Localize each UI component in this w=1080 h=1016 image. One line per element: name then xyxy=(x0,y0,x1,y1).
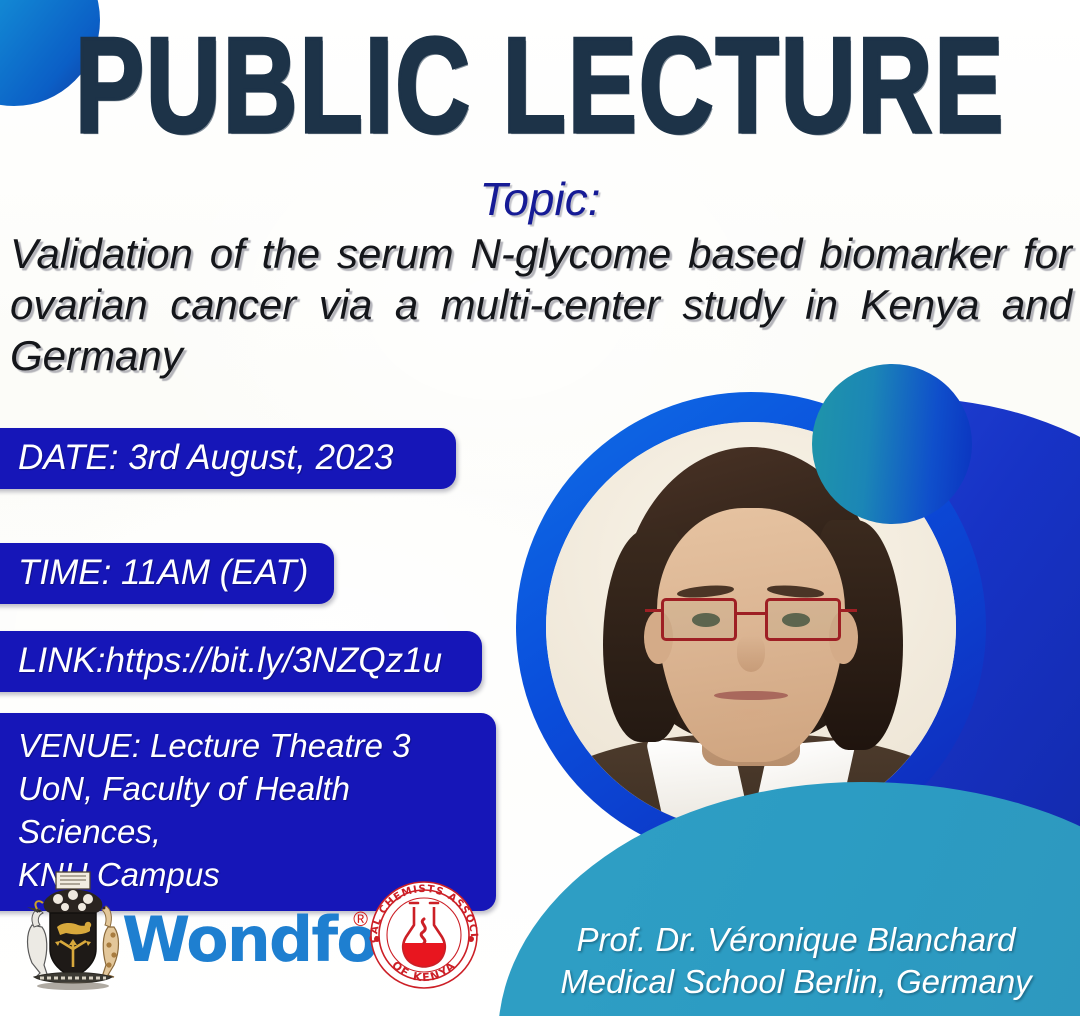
eyeglasses-icon xyxy=(661,598,841,641)
speaker-caption: Prof. Dr. Véronique Blanchard Medical Sc… xyxy=(536,919,1056,1002)
wondfo-wordmark: Wondfo xyxy=(122,903,377,976)
university-of-nairobi-logo xyxy=(14,869,132,991)
poster-canvas: PUBLIC LECTURE Topic: Validation of the … xyxy=(0,0,1080,1016)
logo-row: Wondfo ® CLINICAL CHEMISTS ASSOCIATION xyxy=(0,865,500,1005)
detail-date: DATE: 3rd August, 2023 xyxy=(0,428,456,489)
topic-label: Topic: xyxy=(0,172,1080,226)
topic-text: Validation of the serum N-glycome based … xyxy=(10,228,1072,433)
clinical-chemists-association-of-kenya-logo: CLINICAL CHEMISTS ASSOCIATION OF KENYA xyxy=(360,869,488,995)
page-title: PUBLIC LECTURE xyxy=(65,18,1015,154)
wondfo-logo: Wondfo ® xyxy=(122,905,362,975)
detail-link[interactable]: LINK:https://bit.ly/3NZQz1u xyxy=(0,631,482,692)
detail-time: TIME: 11AM (EAT) xyxy=(0,543,334,604)
